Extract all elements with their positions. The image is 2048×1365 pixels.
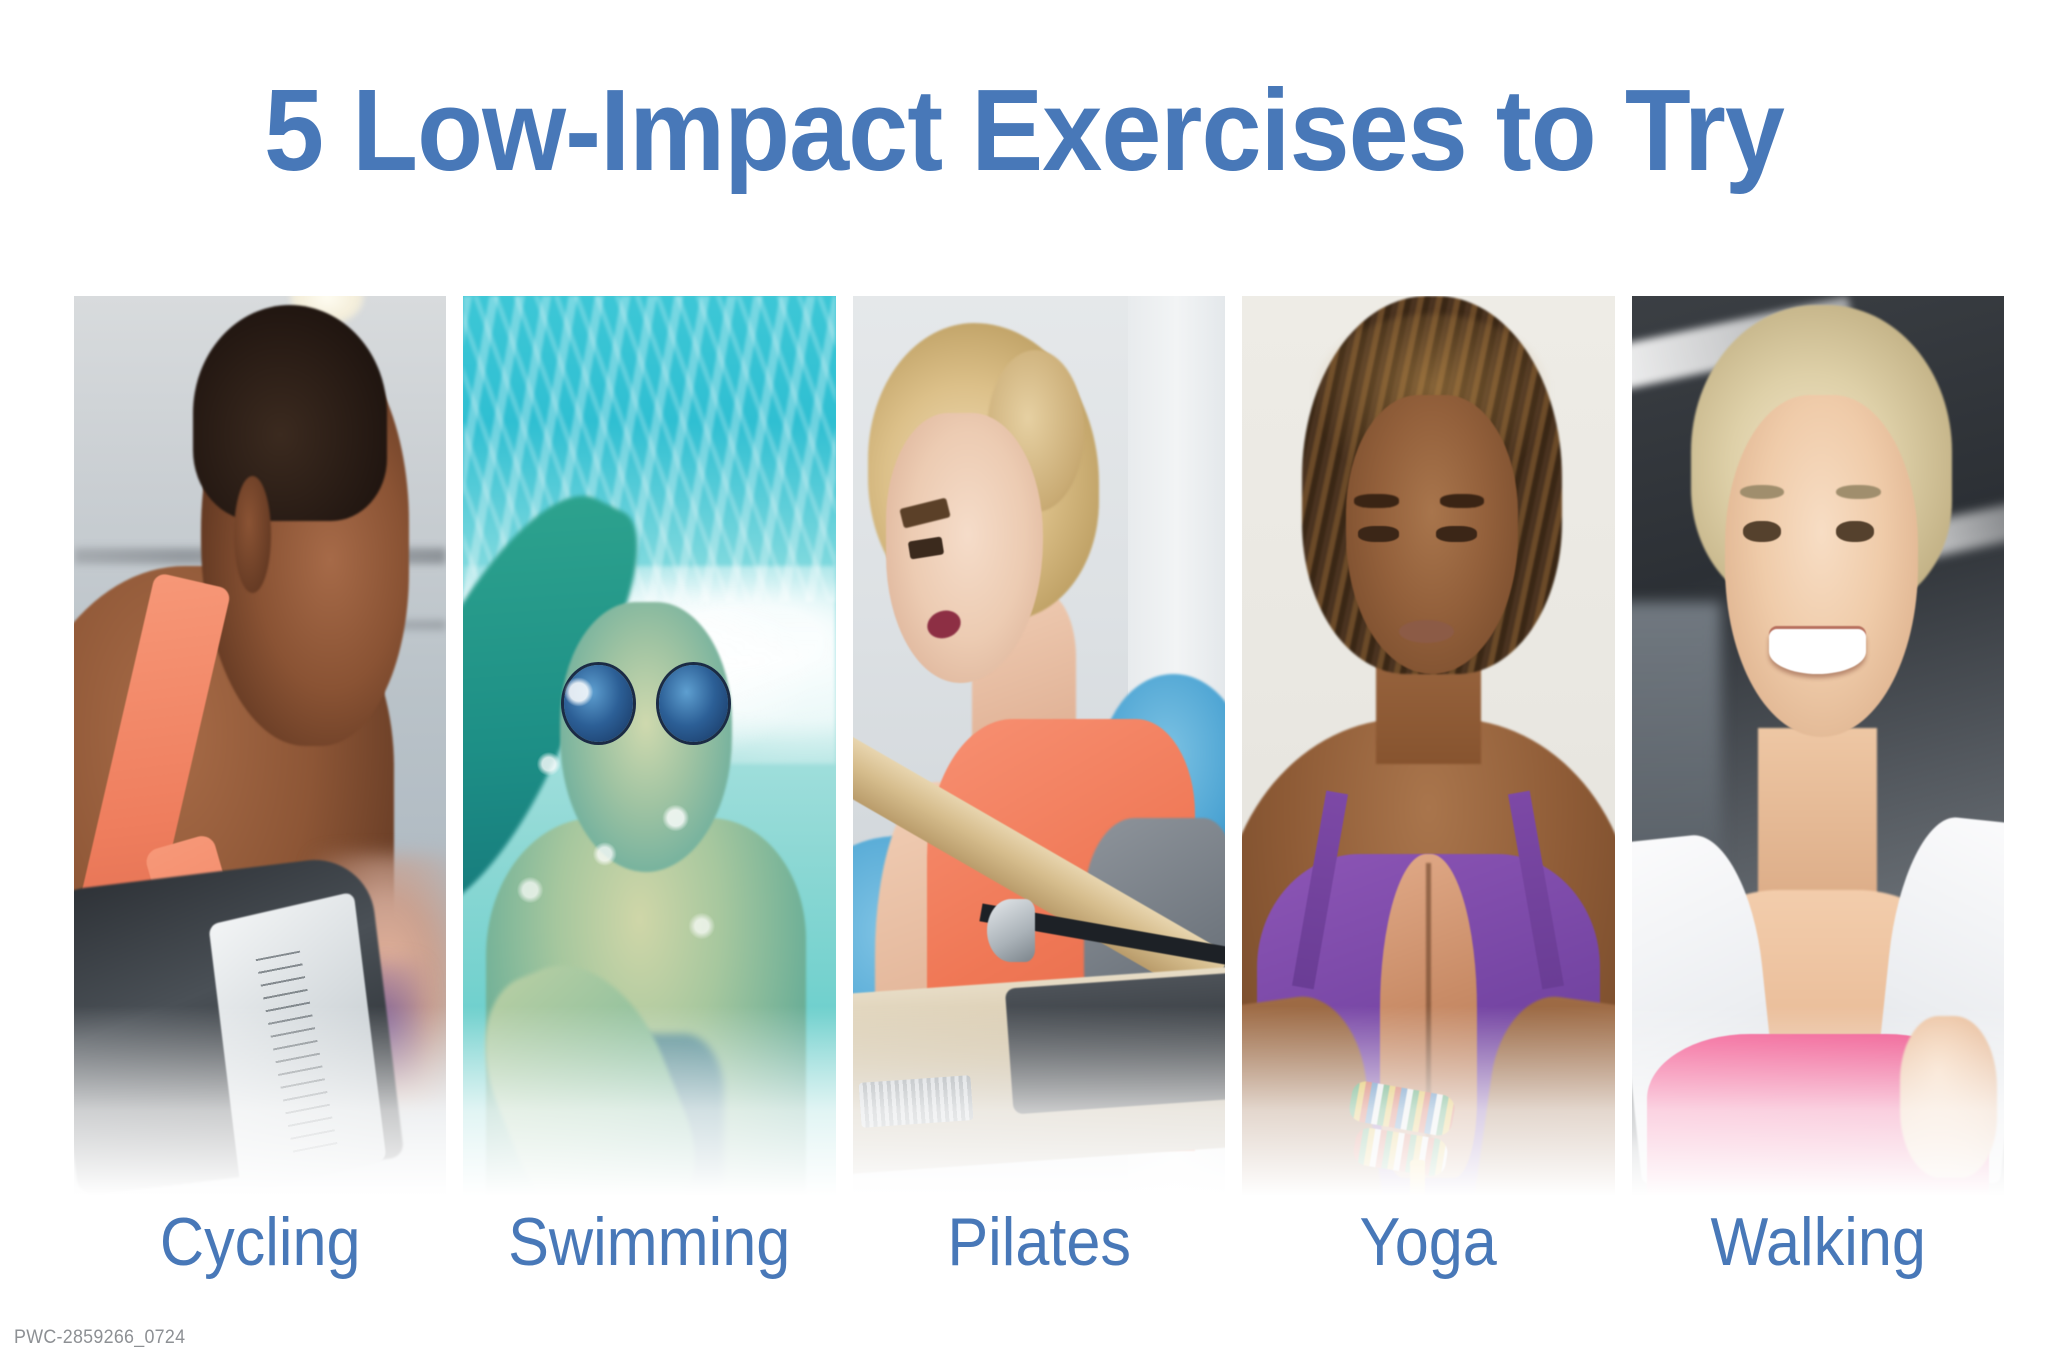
exercise-photo-strip (74, 296, 2004, 1196)
bracelet-tassel (1410, 1160, 1425, 1196)
pilates-image (853, 296, 1225, 1196)
reformer-clip (987, 899, 1035, 962)
yoga-image (1242, 296, 1614, 1196)
exercise-label-yoga: Yoga (1261, 1208, 1596, 1276)
walker-hand (1900, 1016, 1997, 1178)
exercise-photo-cycling (74, 296, 446, 1196)
cycling-image (74, 296, 446, 1196)
exercise-label-pilates: Pilates (871, 1208, 1206, 1276)
walker-eyebrow-right (1836, 485, 1881, 499)
walker-eye-right (1836, 521, 1873, 542)
exercise-photo-yoga (1242, 296, 1614, 1196)
reformer-spring (859, 1075, 974, 1128)
yoga-eyebrow-right (1440, 494, 1485, 508)
reformer-carriage-pad (1005, 972, 1225, 1115)
exercise-label-swimming: Swimming (482, 1208, 817, 1276)
yoga-closed-eye-right (1436, 526, 1477, 542)
air-bubbles (463, 296, 835, 1196)
exercise-photo-pilates (853, 296, 1225, 1196)
yoga-closed-eye-left (1358, 526, 1399, 542)
exercise-label-walking: Walking (1650, 1208, 1985, 1276)
exercise-photo-swimming (463, 296, 835, 1196)
walker-neck (1758, 728, 1877, 908)
walker-smile (1769, 629, 1866, 674)
walking-image (1632, 296, 2004, 1196)
page-title: 5 Low-Impact Exercises to Try (72, 72, 1977, 188)
exercise-label-cycling: Cycling (93, 1208, 428, 1276)
walker-face (1725, 395, 1919, 737)
yoga-eyebrow-left (1354, 494, 1399, 508)
cyclist-hair (193, 305, 387, 521)
exercise-photo-walking (1632, 296, 2004, 1196)
walker-eye-left (1743, 521, 1780, 542)
swimming-image (463, 296, 835, 1196)
document-reference-code: PWC-2859266_0724 (14, 1327, 185, 1349)
poster-canvas: 5 Low-Impact Exercises to Try (0, 0, 2048, 1365)
exercise-label-row: Cycling Swimming Pilates Yoga Walking (74, 1208, 2004, 1276)
walker-eyebrow-left (1740, 485, 1785, 499)
